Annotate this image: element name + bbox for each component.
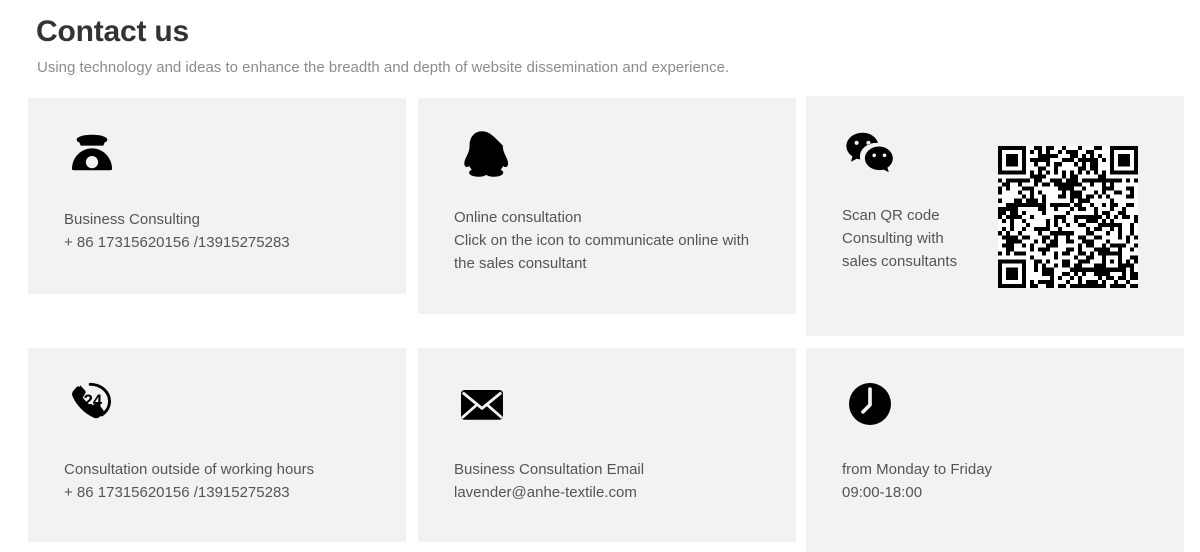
envelope-icon <box>454 376 510 432</box>
card-line: 09:00-18:00 <box>842 481 992 504</box>
contact-card-online-consultation[interactable]: Online consultation Click on the icon to… <box>418 98 796 314</box>
contact-card-email[interactable]: Business Consultation Email lavender@anh… <box>418 348 796 542</box>
card-line: the sales consultant <box>454 252 749 275</box>
contact-card-wechat-qr[interactable]: Scan QR code Consulting with sales consu… <box>806 96 1184 336</box>
card-text: Scan QR code Consulting with sales consu… <box>842 204 982 273</box>
phone-24h-icon: 24 <box>64 376 120 432</box>
card-line: Consultation outside of working hours <box>64 458 314 481</box>
card-line: Business Consulting <box>64 208 290 231</box>
qr-canvas <box>998 146 1138 288</box>
contact-card-after-hours[interactable]: 24 Consultation outside of working hours… <box>28 348 406 542</box>
card-text: from Monday to Friday 09:00-18:00 <box>842 458 992 504</box>
card-line: + 86 17315620156 /13915275283 <box>64 481 314 504</box>
wechat-icon <box>842 124 898 180</box>
card-text: Business Consultation Email lavender@anh… <box>454 458 644 504</box>
page-title: Contact us <box>36 12 189 52</box>
telephone-icon <box>64 126 120 182</box>
card-line: Online consultation <box>454 206 749 229</box>
card-line: Scan QR code <box>842 204 982 227</box>
card-text: Business Consulting + 86 17315620156 /13… <box>64 208 290 254</box>
card-text: Consultation outside of working hours + … <box>64 458 314 504</box>
svg-text:24: 24 <box>84 391 103 410</box>
clock-icon <box>842 376 898 432</box>
card-line: + 86 17315620156 /13915275283 <box>64 231 290 254</box>
qq-penguin-icon[interactable] <box>454 126 510 182</box>
card-line: lavender@anhe-textile.com <box>454 481 644 504</box>
contact-us-page: Contact us Using technology and ideas to… <box>0 0 1200 552</box>
wechat-qr-code <box>998 146 1138 288</box>
card-text: Online consultation Click on the icon to… <box>454 206 749 275</box>
card-line: Business Consultation Email <box>454 458 644 481</box>
page-subtitle: Using technology and ideas to enhance th… <box>37 58 729 78</box>
card-line: Click on the icon to communicate online … <box>454 229 749 252</box>
card-line: from Monday to Friday <box>842 458 992 481</box>
contact-card-business-consulting[interactable]: Business Consulting + 86 17315620156 /13… <box>28 98 406 294</box>
card-line: Consulting with sales consultants <box>842 227 982 273</box>
contact-card-working-hours[interactable]: from Monday to Friday 09:00-18:00 <box>806 348 1184 552</box>
